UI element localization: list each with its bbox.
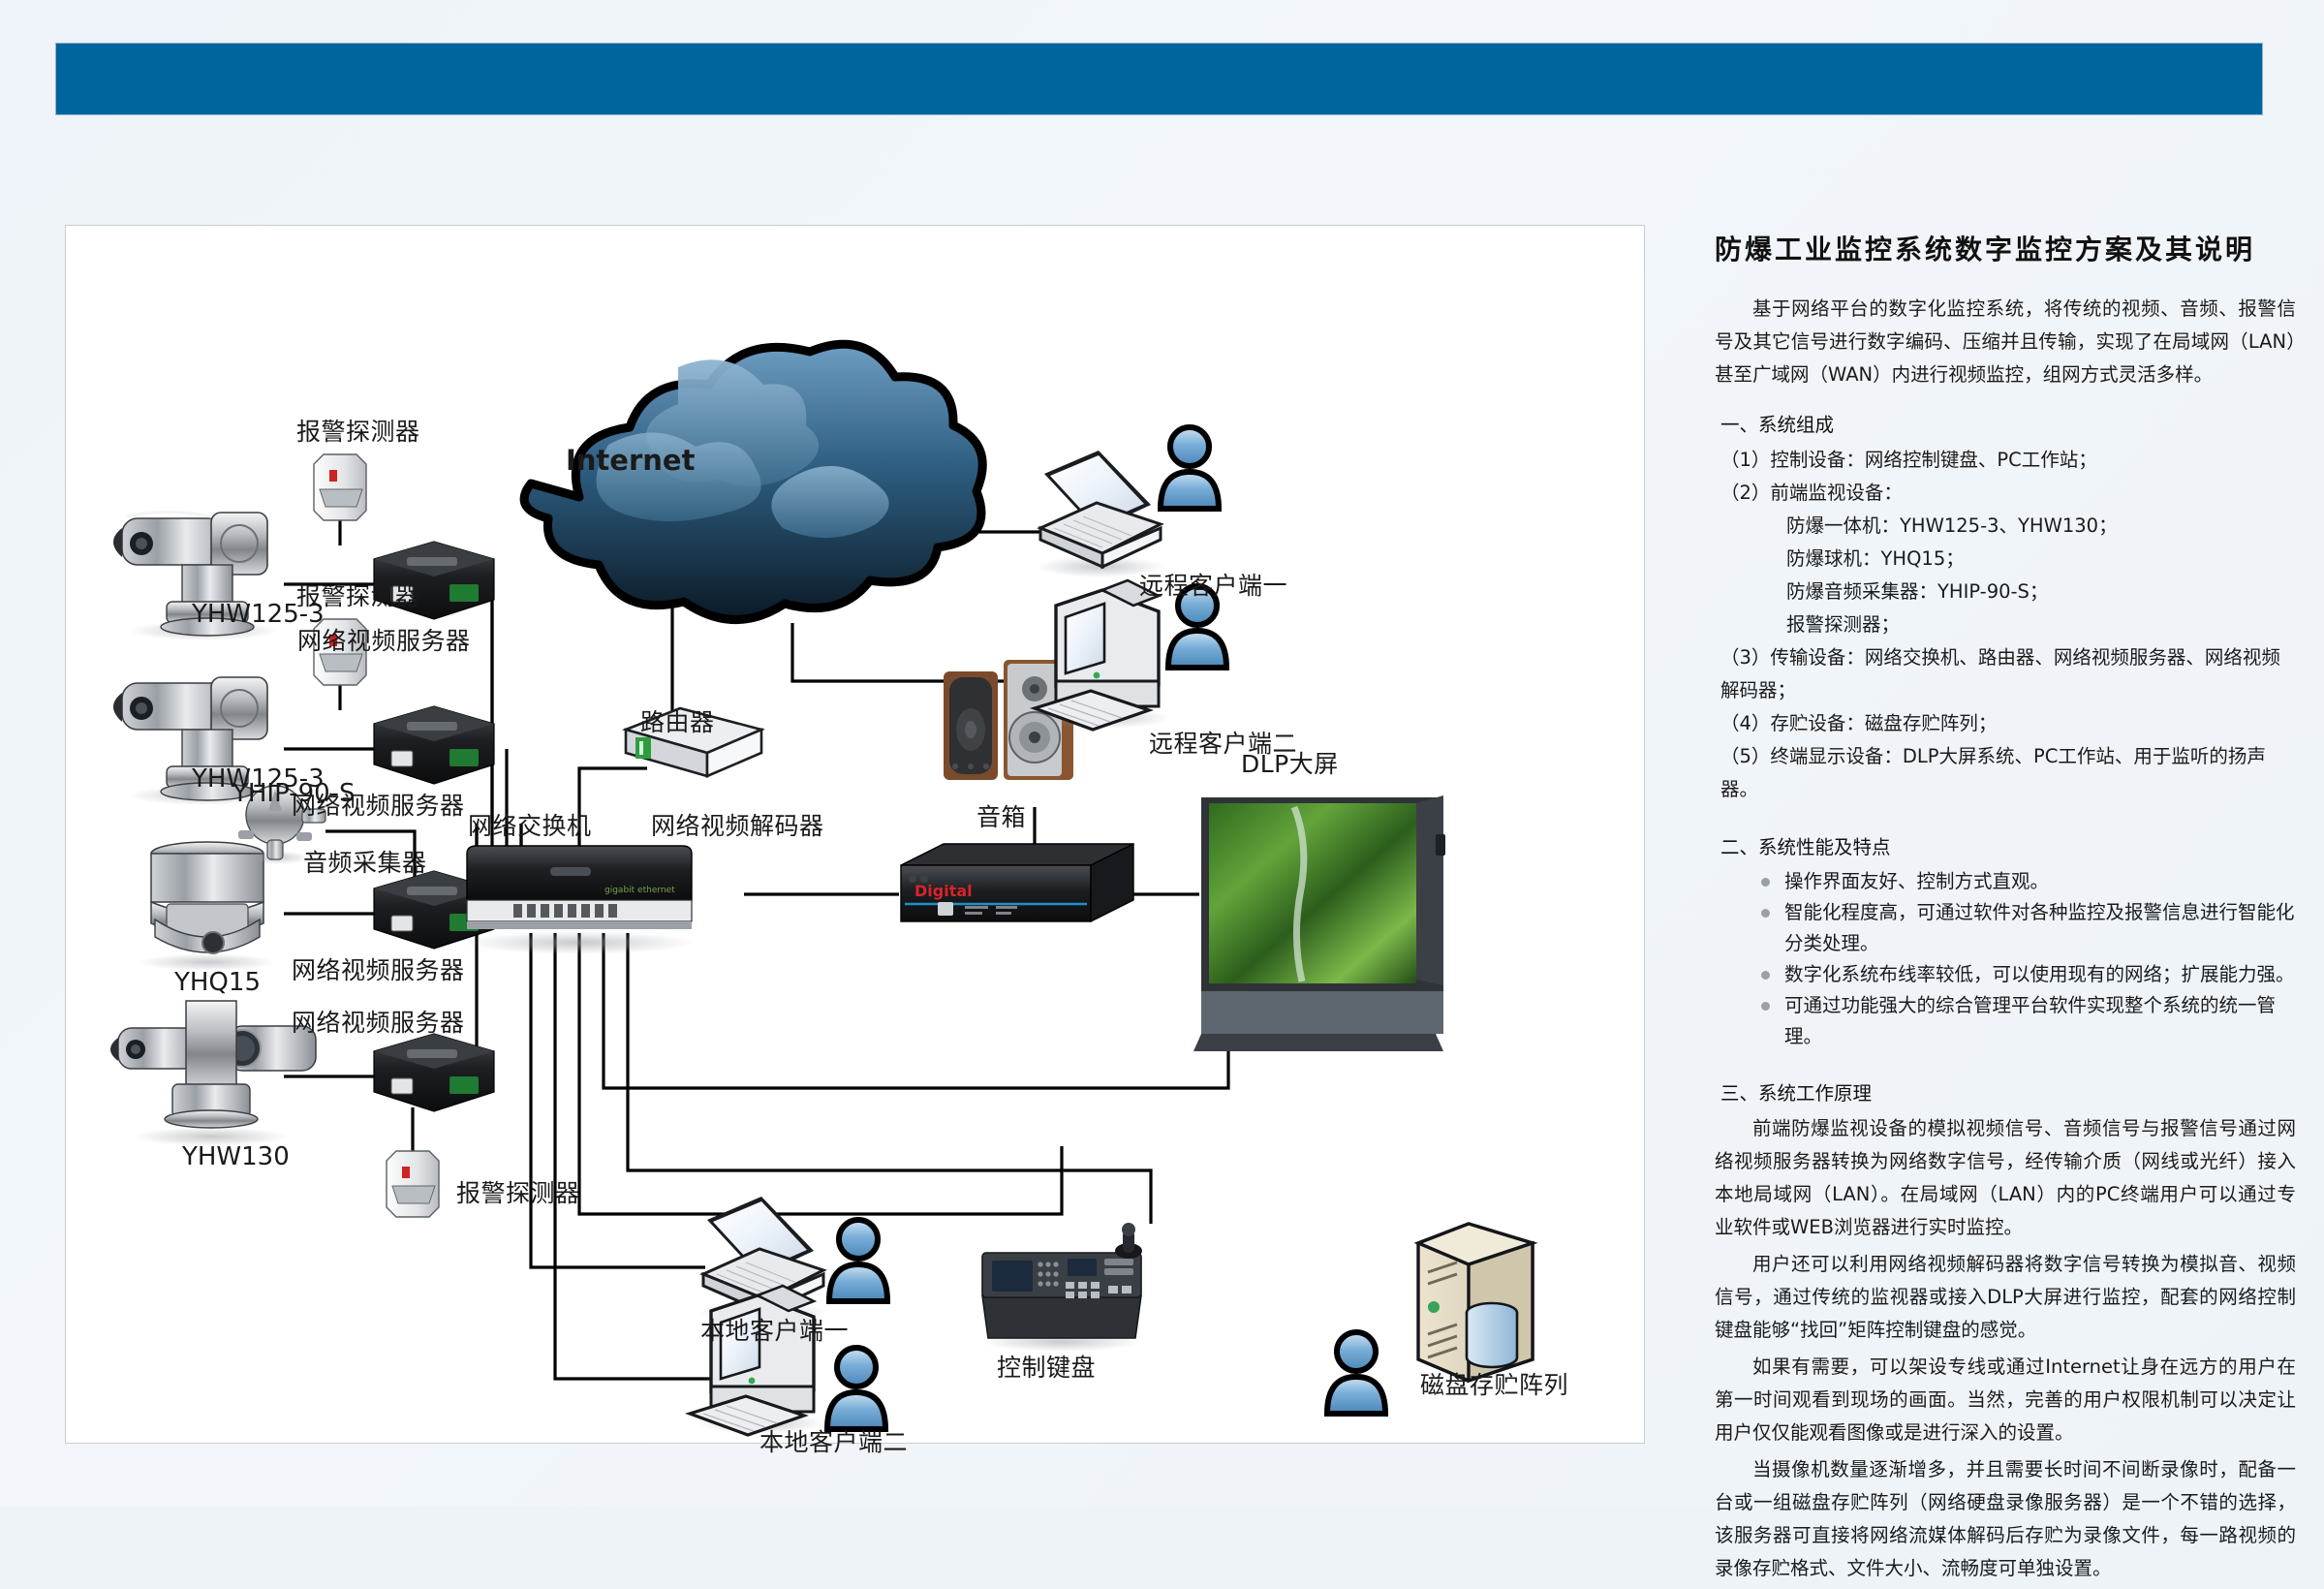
label-video-server-4: 网络视频服务器 <box>292 1011 465 1035</box>
label-local-client-2: 本地客户端二 <box>759 1430 908 1454</box>
section-1-subitem-4: 报警探测器； <box>1786 608 2296 641</box>
alarm-detector-3-icon <box>387 1151 439 1217</box>
section-2-bullet-2: 智能化程度高，可通过软件对各种监控及报警信息进行智能化分类处理。 <box>1759 897 2296 959</box>
section-2-heading: 二、系统性能及特点 <box>1720 831 2296 864</box>
label-local-client-1: 本地客户端一 <box>700 1319 849 1343</box>
section-3-paragraph-2: 用户还可以利用网络视频解码器将数字信号转换为模拟音、视频信号，通过传统的监视器或… <box>1715 1248 2296 1347</box>
video-server-2-icon <box>374 706 494 784</box>
decoder-brand-text: Digital <box>914 882 973 900</box>
remote-client-1-laptop-icon <box>1037 451 1164 577</box>
control-keyboard-icon <box>982 1223 1142 1352</box>
section-1-item-4: （4）存贮设备：磁盘存贮阵列； <box>1720 707 2296 740</box>
remote-client-2-desktop-icon <box>1035 580 1170 730</box>
local-client-1-user-icon <box>829 1220 887 1301</box>
section-2-bullet-1: 操作界面友好、控制方式直观。 <box>1759 866 2296 897</box>
local-client-2-user-icon <box>827 1348 885 1429</box>
label-video-decoder: 网络视频解码器 <box>651 814 824 838</box>
dlp-screen-icon <box>1193 795 1445 1051</box>
network-diagram-panel: gigabit ethernet Digital <box>65 225 1645 1444</box>
label-alarm-detector-1: 报警探测器 <box>296 420 420 444</box>
section-1-subitem-2: 防爆球机：YHQ15； <box>1786 543 2296 576</box>
section-3-paragraph-4: 当摄像机数量逐渐增多，并且需要长时间不间断录像时，配备一台或一组磁盘存贮阵列（网… <box>1715 1453 2296 1585</box>
diagram-canvas: gigabit ethernet Digital <box>66 226 1646 1445</box>
section-2-bullet-4: 可通过功能强大的综合管理平台软件实现整个系统的统一管理。 <box>1759 990 2296 1052</box>
label-video-server-2: 网络视频服务器 <box>292 794 465 818</box>
label-video-server-1: 网络视频服务器 <box>297 629 471 653</box>
section-3-heading: 三、系统工作原理 <box>1720 1077 2296 1110</box>
section-2-bullet-3: 数字化系统布线率较低，可以使用现有的网络；扩展能力强。 <box>1759 959 2296 990</box>
network-switch-icon: gigabit ethernet <box>463 846 696 954</box>
section-3-paragraph-3: 如果有需要，可以架设专线或通过Internet让身在远方的用户在第一时间观看到现… <box>1715 1351 2296 1449</box>
section-1-item-3: （3）传输设备：网络交换机、路由器、网络视频服务器、网络视频解码器； <box>1720 641 2296 707</box>
internet-cloud-icon <box>524 344 982 619</box>
section-1-item-2: （2）前端监视设备： <box>1720 477 2296 510</box>
disk-array-user-icon <box>1327 1332 1385 1414</box>
label-network-switch: 网络交换机 <box>468 814 592 838</box>
remote-client-1-user-icon <box>1161 427 1219 509</box>
label-remote-client-2: 远程客户端二 <box>1149 732 1297 756</box>
label-audio-collector: 音频采集器 <box>303 851 427 875</box>
label-camera-yhw130: YHW130 <box>182 1144 290 1169</box>
section-1-subitem-3: 防爆音频采集器：YHIP-90-S； <box>1786 576 2296 608</box>
label-disk-array: 磁盘存贮阵列 <box>1420 1373 1568 1397</box>
video-server-4-icon <box>374 1034 494 1111</box>
alarm-detector-1-icon <box>314 454 366 520</box>
label-router: 路由器 <box>640 710 715 734</box>
document-title: 防爆工业监控系统数字监控方案及其说明 <box>1715 229 2296 267</box>
label-remote-client-1: 远程客户端一 <box>1139 574 1287 598</box>
label-alarm-detector-2: 报警探测器 <box>296 584 420 608</box>
description-column: 防爆工业监控系统数字监控方案及其说明 基于网络平台的数字化监控系统，将传统的视频… <box>1715 229 2296 1589</box>
label-speaker: 音箱 <box>976 805 1026 829</box>
svg-text:gigabit ethernet: gigabit ethernet <box>604 886 675 895</box>
label-internet: Internet <box>566 447 695 475</box>
poster-page: gigabit ethernet Digital <box>0 0 2324 1507</box>
camera-yhw130-icon <box>110 1001 316 1146</box>
label-control-keyboard: 控制键盘 <box>997 1355 1096 1380</box>
top-banner <box>56 44 2262 114</box>
label-alarm-detector-3: 报警探测器 <box>456 1181 580 1205</box>
section-1-item-5: （5）终端显示设备：DLP大屏系统、PC工作站、用于监听的扬声器。 <box>1720 740 2296 806</box>
section-3-paragraph-1: 前端防爆监视设备的模拟视频信号、音频信号与报警信号通过网络视频服务器转换为网络数… <box>1715 1112 2296 1244</box>
intro-paragraph: 基于网络平台的数字化监控系统，将传统的视频、音频、报警信号及其它信号进行数字编码… <box>1715 293 2296 391</box>
video-decoder-icon: Digital <box>901 844 1133 921</box>
label-video-server-3: 网络视频服务器 <box>292 958 465 982</box>
section-1-item-1: （1）控制设备：网络控制键盘、PC工作站； <box>1720 444 2296 477</box>
label-camera-yhq15: YHQ15 <box>174 970 261 995</box>
section-1-heading: 一、系统组成 <box>1720 409 2296 442</box>
disk-array-icon <box>1418 1224 1533 1381</box>
section-1-subitem-1: 防爆一体机：YHW125-3、YHW130； <box>1786 510 2296 543</box>
